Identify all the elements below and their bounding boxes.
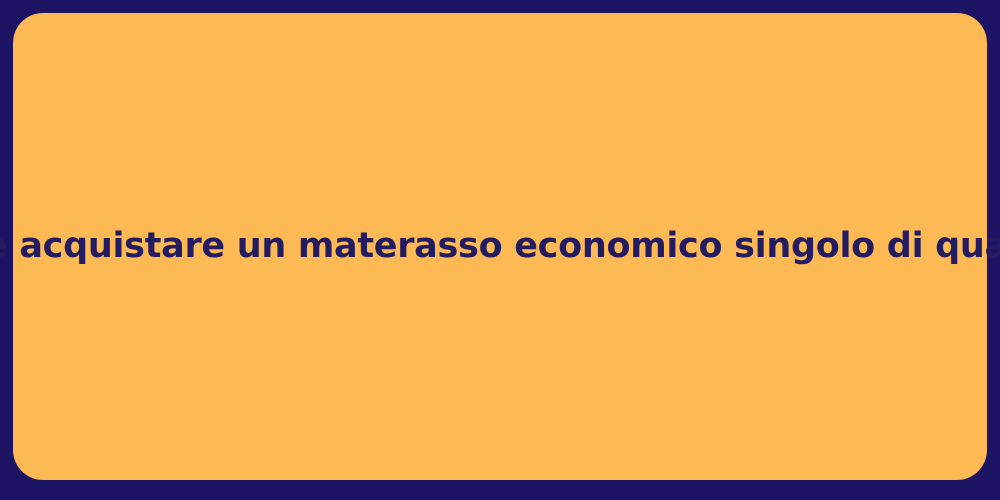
card-panel: Dove acquistare un materasso economico s… <box>13 13 987 480</box>
question-card: Dove acquistare un materasso economico s… <box>0 0 1000 500</box>
page-title: Dove acquistare un materasso economico s… <box>0 225 1000 269</box>
